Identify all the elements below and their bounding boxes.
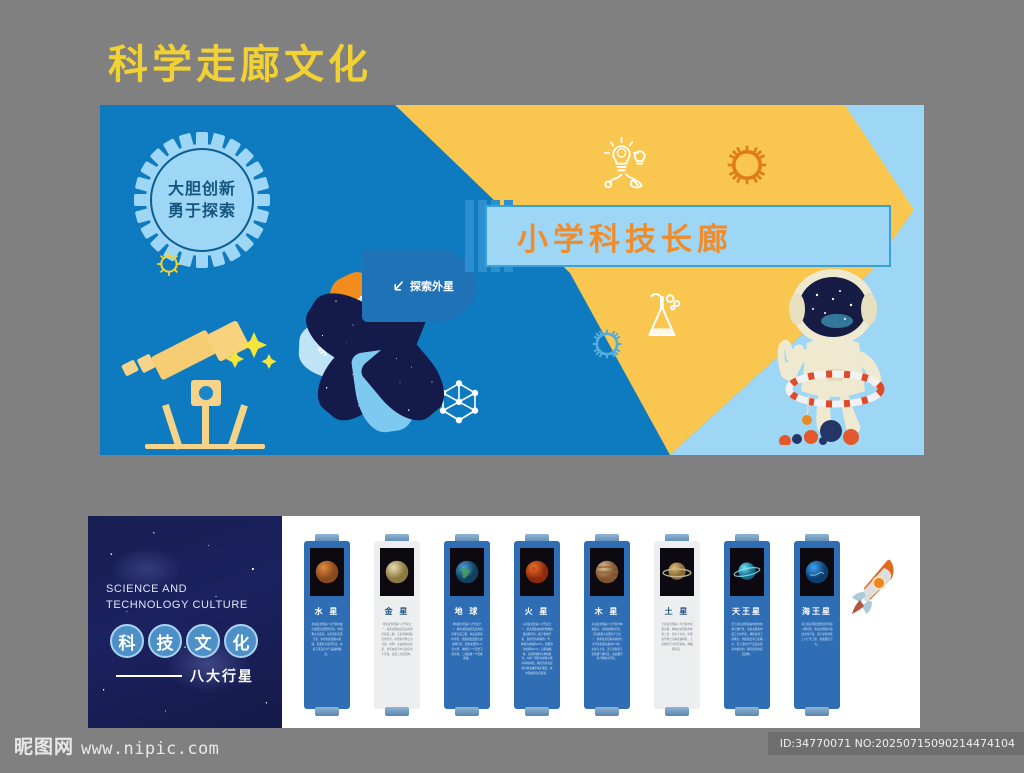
- planet-column-earth[interactable]: 地 球 地球是太阳系八大行星之一，按离太阳由近及远的次序排为第三颗，也是太阳系中…: [444, 534, 490, 716]
- watermark-cn: 昵图网: [14, 732, 74, 759]
- planet-column-venus[interactable]: 金 星 金星是太阳系八大行星之一，按离太阳由近及远的次序是第二颗，它是离地球最近…: [374, 534, 420, 716]
- column-cap-bottom: [805, 707, 829, 716]
- slogan-text: 大胆创新 勇于探索: [132, 130, 272, 270]
- column-cap-bottom: [455, 707, 479, 716]
- board-english-title: SCIENCE AND TECHNOLOGY CULTURE: [106, 582, 248, 614]
- headline-ribbon: 小学科技长廊: [485, 205, 891, 267]
- planet-column-jupiter[interactable]: 木 星 木星是太阳系八大行星中体积最大、自转最快的行星，它的质量为太阳的千分之一…: [584, 534, 630, 716]
- planet-columns-area: 水 星 水星是太阳系八大行星中最小最靠近太阳的行星，中国称之为辰星，水星没有天然…: [282, 516, 920, 728]
- keyword-circle: 化: [224, 624, 258, 658]
- planet-name: 木 星: [595, 606, 620, 617]
- planet-name: 水 星: [315, 606, 340, 617]
- gear-outline-orange-icon: [725, 143, 769, 187]
- planet-desc: 土星是太阳系八大行星中的第六颗，体积在太阳系中排第二位，仅次于木星，中国古代称之…: [661, 623, 693, 653]
- column-cap-bottom: [665, 707, 689, 716]
- planet-desc: 水星是太阳系八大行星中最小最靠近太阳的行星，中国称之为辰星，水星没有天然卫星，水…: [311, 623, 343, 657]
- column-cap-bottom: [595, 707, 619, 716]
- watermark-url: www.nipic.com: [81, 739, 219, 759]
- planet-image-uranus: [730, 548, 764, 596]
- english-line-2: TECHNOLOGY CULTURE: [106, 598, 248, 614]
- planet-desc: 天王星是太阳系由内向外的第七颗行星，也是太阳系中第三大的行星，体积比海王星略大，…: [731, 623, 763, 657]
- column-body: 火 星 火星是太阳系八大行星之一，是太阳系由内往外数的第四颗行星，属于类地行星，…: [514, 541, 560, 709]
- planet-name: 金 星: [385, 606, 410, 617]
- astronaut-icon: [745, 265, 905, 445]
- main-banner: 大胆创新 勇于探索: [100, 105, 924, 455]
- page-title: 科学走廊文化: [108, 32, 372, 90]
- keyword-circles: 科 技 文 化: [110, 624, 258, 658]
- planet-image-jupiter: [590, 548, 624, 596]
- board-title-panel: SCIENCE AND TECHNOLOGY CULTURE 科 技 文 化 八…: [88, 516, 282, 728]
- planet-image-neptune: [800, 548, 834, 596]
- column-body: 木 星 木星是太阳系八大行星中体积最大、自转最快的行星，它的质量为太阳的千分之一…: [584, 541, 630, 709]
- column-cap-bottom: [385, 707, 409, 716]
- petal-wide-label: 探索外星: [410, 278, 454, 294]
- planet-image-venus: [380, 548, 414, 596]
- planet-name: 土 星: [665, 606, 690, 617]
- slogan-line-2: 勇于探索: [168, 200, 236, 222]
- planets-board: SCIENCE AND TECHNOLOGY CULTURE 科 技 文 化 八…: [88, 516, 920, 728]
- pinwheel-petal-explore[interactable]: 探索外星: [362, 250, 477, 322]
- pinwheel-graphic: 太空 宇宙 火星 探索外星: [262, 190, 462, 370]
- planet-desc: 火星是太阳系八大行星之一，是太阳系由内往外数的第四颗行星，属于类地行星，直径约为…: [521, 623, 553, 677]
- slogan-line-1: 大胆创新: [168, 178, 236, 200]
- headline-text: 小学科技长廊: [517, 214, 733, 259]
- planet-desc: 木星是太阳系八大行星中体积最大、自转最快的行星，它的质量为太阳的千分之一，但却是…: [591, 623, 623, 662]
- planet-image-saturn: [660, 548, 694, 596]
- column-body: 海王星 海王星是环绕太阳运行的第八颗行星，也是太阳系中第四大的行星，海王星的直径…: [794, 541, 840, 709]
- column-body: 水 星 水星是太阳系八大行星中最小最靠近太阳的行星，中国称之为辰星，水星没有天然…: [304, 541, 350, 709]
- telescope-icon: [115, 310, 285, 450]
- keyword-circle: 文: [186, 624, 220, 658]
- planet-name: 地 球: [455, 606, 480, 617]
- column-body: 金 星 金星是太阳系八大行星之一，按离太阳由近及远的次序是第二颗，它是离地球最近…: [374, 541, 420, 709]
- slogan-gear-badge: 大胆创新 勇于探索: [132, 130, 272, 270]
- planet-name: 海王星: [802, 606, 832, 617]
- column-body: 天王星 天王星是太阳系由内向外的第七颗行星，也是太阳系中第三大的行星，体积比海王…: [724, 541, 770, 709]
- watermark: 昵图网 www.nipic.com: [14, 732, 219, 759]
- planet-desc: 海王星是环绕太阳运行的第八颗行星，也是太阳系中第四大的行星，海王星的直径上小于天…: [801, 623, 833, 648]
- column-cap-bottom: [525, 707, 549, 716]
- gear-outline-blue-icon: [590, 327, 624, 361]
- planet-column-mars[interactable]: 火 星 火星是太阳系八大行星之一，是太阳系由内往外数的第四颗行星，属于类地行星，…: [514, 534, 560, 716]
- flask-icon: [640, 287, 692, 345]
- subtitle-rule: [116, 675, 182, 677]
- planet-column-neptune[interactable]: 海王星 海王星是环绕太阳运行的第八颗行星，也是太阳系中第四大的行星，海王星的直径…: [794, 534, 840, 716]
- planet-image-mars: [520, 548, 554, 596]
- planet-column-saturn[interactable]: 土 星 土星是太阳系八大行星中的第六颗，体积在太阳系中排第二位，仅次于木星，中国…: [654, 534, 700, 716]
- planet-column-mercury[interactable]: 水 星 水星是太阳系八大行星中最小最靠近太阳的行星，中国称之为辰星，水星没有天然…: [304, 534, 350, 716]
- keyword-circle: 科: [110, 624, 144, 658]
- rocket-icon: [846, 554, 908, 620]
- planet-name: 天王星: [732, 606, 762, 617]
- board-subtitle: 八大行星: [190, 666, 254, 686]
- planet-name: 火 星: [525, 606, 550, 617]
- board-subtitle-row: 八大行星: [116, 666, 254, 686]
- image-id-badge: ID:34770071 NO:20250715090214474104: [768, 732, 1024, 755]
- column-cap-bottom: [315, 707, 339, 716]
- planet-desc: 金星是太阳系八大行星之一，按离太阳由近及远的次序是第二颗，它是离地球最近的行星。…: [381, 623, 413, 657]
- planet-image-mercury: [310, 548, 344, 596]
- planet-desc: 地球是太阳系八大行星之一，按离太阳由近及远的次序排为第三颗，也是太阳系中直径、质…: [451, 623, 483, 662]
- column-cap-bottom: [735, 707, 759, 716]
- keyword-circle: 技: [148, 624, 182, 658]
- column-body: 地 球 地球是太阳系八大行星之一，按离太阳由近及远的次序排为第三颗，也是太阳系中…: [444, 541, 490, 709]
- english-line-1: SCIENCE AND: [106, 582, 248, 598]
- column-body: 土 星 土星是太阳系八大行星中的第六颗，体积在太阳系中排第二位，仅次于木星，中国…: [654, 541, 700, 709]
- planet-image-earth: [450, 548, 484, 596]
- planet-column-uranus[interactable]: 天王星 天王星是太阳系由内向外的第七颗行星，也是太阳系中第三大的行星，体积比海王…: [724, 534, 770, 716]
- lightbulb-brain-icon: [595, 133, 653, 191]
- gear-small-yellow-icon: [155, 250, 183, 278]
- stripe: [465, 200, 474, 272]
- arrow-down-left-icon: [392, 280, 405, 293]
